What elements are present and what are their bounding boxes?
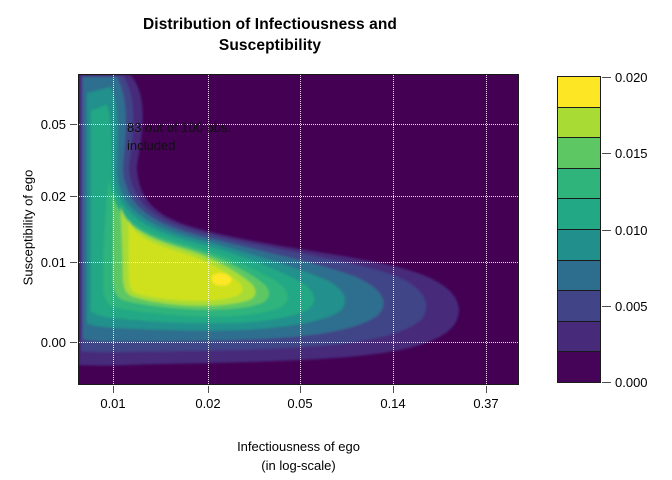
x-axis-title: Infectiousness of ego (in log-scale) [78,437,519,475]
colorbar-band-1 [558,321,600,352]
x-tick-label: 0.02 [178,396,238,411]
plot-panel: 83 out of 100 obs. included [78,74,519,385]
colorbar-band-9 [558,77,600,107]
observation-annotation: 83 out of 100 obs. included [127,119,231,155]
x-tick-mark [208,386,209,393]
colorbar-tick-mark [602,153,611,154]
colorbar-tick-mark [602,306,611,307]
colorbar-tick-mark [602,382,611,383]
x-tick-mark [486,386,487,393]
colorbar-band-0 [558,351,600,382]
colorbar-tick-label: 0.005 [615,299,648,314]
colorbar-tick-mark [602,230,611,231]
colorbar-band-8 [558,107,600,138]
x-tick-label: 0.05 [270,396,330,411]
page-title: Distribution of Infectiousness and Susce… [0,14,540,56]
y-tick-mark [70,124,77,125]
colorbar-tick-label: 0.000 [615,375,648,390]
colorbar-band-3 [558,260,600,291]
colorbar-band-5 [558,198,600,229]
x-tick-label: 0.01 [83,396,143,411]
colorbar-band-4 [558,229,600,260]
y-tick-mark [70,262,77,263]
x-axis-title-sub: (in log-scale) [78,456,519,475]
chart-root: Distribution of Infectiousness and Susce… [0,0,672,480]
y-tick-mark [70,196,77,197]
x-tick-mark [113,386,114,393]
x-tick-label: 0.14 [363,396,423,411]
colorbar-tick-mark [602,77,611,78]
colorbar-band-7 [558,137,600,168]
colorbar-tick-label: 0.020 [615,70,648,85]
y-axis-title: Susceptibility of ego [21,108,36,348]
colorbar-tick-label: 0.015 [615,146,648,161]
title-line-2: Susceptibility [0,35,540,56]
x-tick-mark [393,386,394,393]
x-axis-title-main: Infectiousness of ego [78,437,519,456]
colorbar-band-2 [558,290,600,321]
title-line-1: Distribution of Infectiousness and [0,14,540,35]
x-tick-mark [300,386,301,393]
colorbar [557,76,601,383]
x-tick-label: 0.37 [456,396,516,411]
colorbar-tick-label: 0.010 [615,223,648,238]
y-tick-mark [70,342,77,343]
colorbar-band-6 [558,168,600,199]
